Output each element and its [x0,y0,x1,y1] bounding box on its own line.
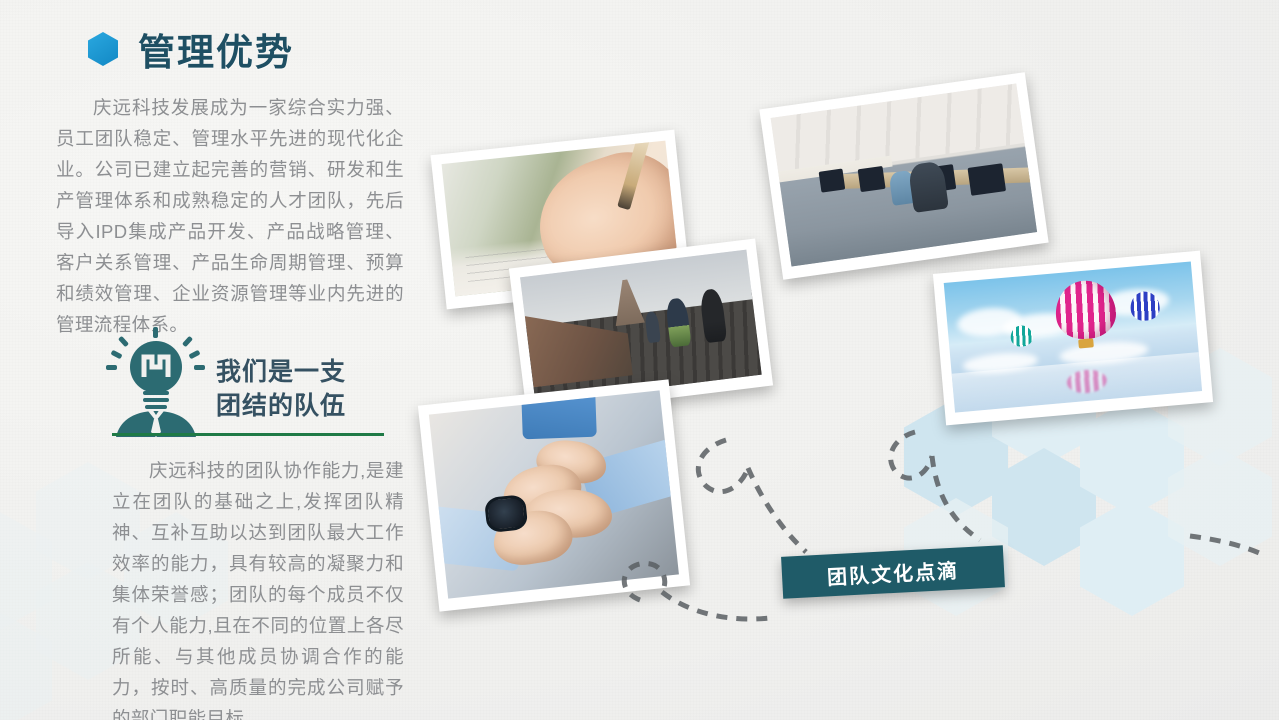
photo-detail [1053,279,1117,341]
heading-underline [112,433,384,436]
lightbulb-person-icon [104,327,208,437]
photo-computer-lab[interactable] [759,72,1048,280]
subsection-heading-line2: 团结的队伍 [216,389,346,423]
photo-detail [858,166,886,192]
hexagon-shape [992,448,1096,566]
photo-image [944,261,1202,412]
subsection-heading-line1: 我们是一支 [216,355,346,389]
photo-hot-air-balloons[interactable] [933,251,1213,426]
photo-detail [520,390,596,439]
photo-image [520,250,762,403]
subsection-heading: 我们是一支 团结的队伍 [216,355,346,423]
banner-label: 团队文化点滴 [826,554,959,590]
dashed-arrow-stem-left [748,468,806,552]
page-title: 管理优势 [138,22,294,76]
slide-title-row: 管理优势 [88,22,294,76]
teamwork-paragraph: 庆远科技的团队协作能力,是建立在团队的基础之上,发挥团队精神、互补互助以达到团队… [112,455,404,720]
hexagon-shape [0,612,52,720]
hexagon-shape [1080,398,1184,516]
photo-detail [968,163,1006,196]
dashed-arrow-edge-right [1190,536,1266,556]
dashed-arrow-loop-left [698,440,748,492]
hexagon-shape [0,512,52,630]
hexagon-icon [88,32,118,66]
photo-image [429,390,679,598]
photo-image [771,83,1037,266]
intro-paragraph: 庆远科技发展成为一家综合实力强、员工团队稳定、管理水平先进的现代化企业。公司已建… [56,92,404,340]
presentation-slide: 管理优势 庆远科技发展成为一家综合实力强、员工团队稳定、管理水平先进的现代化企业… [0,0,1279,720]
dashed-arrow-stem-bottom [662,592,770,619]
dashed-arrow-loop-right [891,432,932,478]
dashed-arrow-stem-right [932,456,980,540]
status-banner[interactable]: 团队文化点滴 [781,545,1005,599]
photo-detail [1078,338,1094,348]
hexagon-shape [1168,448,1272,566]
photo-detail [818,168,845,192]
hexagon-shape [1080,498,1184,616]
photo-team-hands[interactable] [418,379,690,611]
